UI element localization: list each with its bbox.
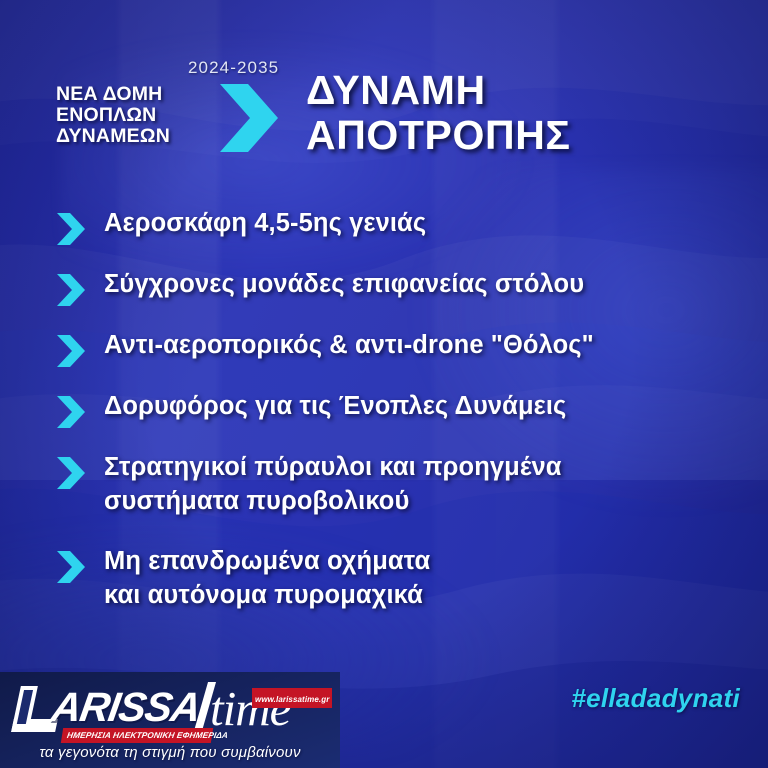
list-item: Αεροσκάφη 4,5-5ης γενιάς: [0, 206, 768, 246]
logo-subtitle-bar: ΗΜΕΡΗΣΙΑ ΗΛΕΚΤΡΟΝΙΚΗ ΕΦΗΜΕΡΙΔΑ: [61, 728, 213, 743]
chevron-right-icon: [56, 212, 86, 246]
logo-letter-mark-notch: [17, 690, 33, 724]
chevron-right-icon: [56, 456, 86, 490]
chevron-right-icon: [56, 273, 86, 307]
list-item-text: Στρατηγικοί πύραυλοι και προηγμένα συστή…: [104, 450, 562, 518]
year-range-label: 2024-2035: [188, 58, 279, 78]
list-item-line: Στρατηγικοί πύραυλοι και προηγμένα: [104, 450, 562, 484]
chevron-right-icon: [56, 334, 86, 368]
list-item-line: Μη επανδρωμένα οχήματα: [104, 544, 430, 578]
list-item: Στρατηγικοί πύραυλοι και προηγμένα συστή…: [0, 450, 768, 518]
list-item-line: Αεροσκάφη 4,5-5ης γενιάς: [104, 206, 426, 240]
page-title-line-2: ΑΠΟΤΡΟΠΗΣ: [306, 113, 571, 158]
chevron-right-icon: [56, 395, 86, 429]
publisher-logo: ARISSA time ΗΜΕΡΗΣΙΑ ΗΛΕΚΤΡΟΝΙΚΗ ΕΦΗΜΕΡΙ…: [14, 678, 330, 736]
infographic-poster: ΝΕΑ ΔΟΜΗ ΕΝΟΠΛΩΝ ΔΥΝΑΜΕΩΝ 2024-2035 ΔΥΝΑ…: [0, 0, 768, 768]
list-item-text: Σύγχρονες μονάδες επιφανείας στόλου: [104, 267, 584, 301]
page-title-line-1: ΔΥΝΑΜΗ: [306, 68, 571, 113]
list-item-line: Αντι-αεροπορικός & αντι-drone "Θόλος": [104, 328, 594, 362]
publisher-logo-panel: ARISSA time ΗΜΕΡΗΣΙΑ ΗΛΕΚΤΡΟΝΙΚΗ ΕΦΗΜΕΡΙ…: [0, 672, 340, 768]
list-item-text: Αντι-αεροπορικός & αντι-drone "Θόλος": [104, 328, 594, 362]
list-item-line: Σύγχρονες μονάδες επιφανείας στόλου: [104, 267, 584, 301]
list-item-line: συστήματα πυροβολικού: [104, 484, 562, 518]
list-item: Δορυφόρος για τις Ένοπλες Δυνάμεις: [0, 389, 768, 429]
hashtag-label: #elladadynati: [571, 683, 740, 714]
logo-tagline: τα γεγονότα τη στιγμή που συμβαίνουν: [0, 744, 340, 761]
logo-subtitle: ΗΜΕΡΗΣΙΑ ΗΛΕΚΤΡΟΝΙΚΗ ΕΦΗΜΕΡΙΔΑ: [66, 730, 229, 740]
logo-url-badge[interactable]: www.larissatime.gr: [252, 688, 332, 708]
logo-wordmark: ARISSA: [48, 684, 203, 731]
list-item: Αντι-αεροπορικός & αντι-drone "Θόλος": [0, 328, 768, 368]
header-kicker-line-2: ΕΝΟΠΛΩΝ: [56, 105, 236, 126]
list-item-text: Μη επανδρωμένα οχήματα και αυτόνομα πυρο…: [104, 544, 430, 612]
list-item: Μη επανδρωμένα οχήματα και αυτόνομα πυρο…: [0, 544, 768, 612]
header-kicker: ΝΕΑ ΔΟΜΗ ΕΝΟΠΛΩΝ ΔΥΝΑΜΕΩΝ: [56, 84, 236, 147]
poster-header: ΝΕΑ ΔΟΜΗ ΕΝΟΠΛΩΝ ΔΥΝΑΜΕΩΝ 2024-2035 ΔΥΝΑ…: [0, 52, 768, 170]
logo-url-text: www.larissatime.gr: [255, 695, 329, 704]
header-kicker-line-3: ΔΥΝΑΜΕΩΝ: [56, 126, 236, 147]
page-title: ΔΥΝΑΜΗ ΑΠΟΤΡΟΠΗΣ: [306, 68, 571, 158]
list-item-line: Δορυφόρος για τις Ένοπλες Δυνάμεις: [104, 389, 566, 423]
chevron-right-icon: [218, 82, 280, 154]
list-item-text: Αεροσκάφη 4,5-5ης γενιάς: [104, 206, 426, 240]
chevron-right-icon: [56, 550, 86, 584]
header-kicker-line-1: ΝΕΑ ΔΟΜΗ: [56, 84, 236, 105]
list-item: Σύγχρονες μονάδες επιφανείας στόλου: [0, 267, 768, 307]
list-item-text: Δορυφόρος για τις Ένοπλες Δυνάμεις: [104, 389, 566, 423]
list-item-line: και αυτόνομα πυρομαχικά: [104, 578, 430, 612]
feature-list: Αεροσκάφη 4,5-5ης γενιάς Σύγχρονες μονάδ…: [0, 206, 768, 622]
